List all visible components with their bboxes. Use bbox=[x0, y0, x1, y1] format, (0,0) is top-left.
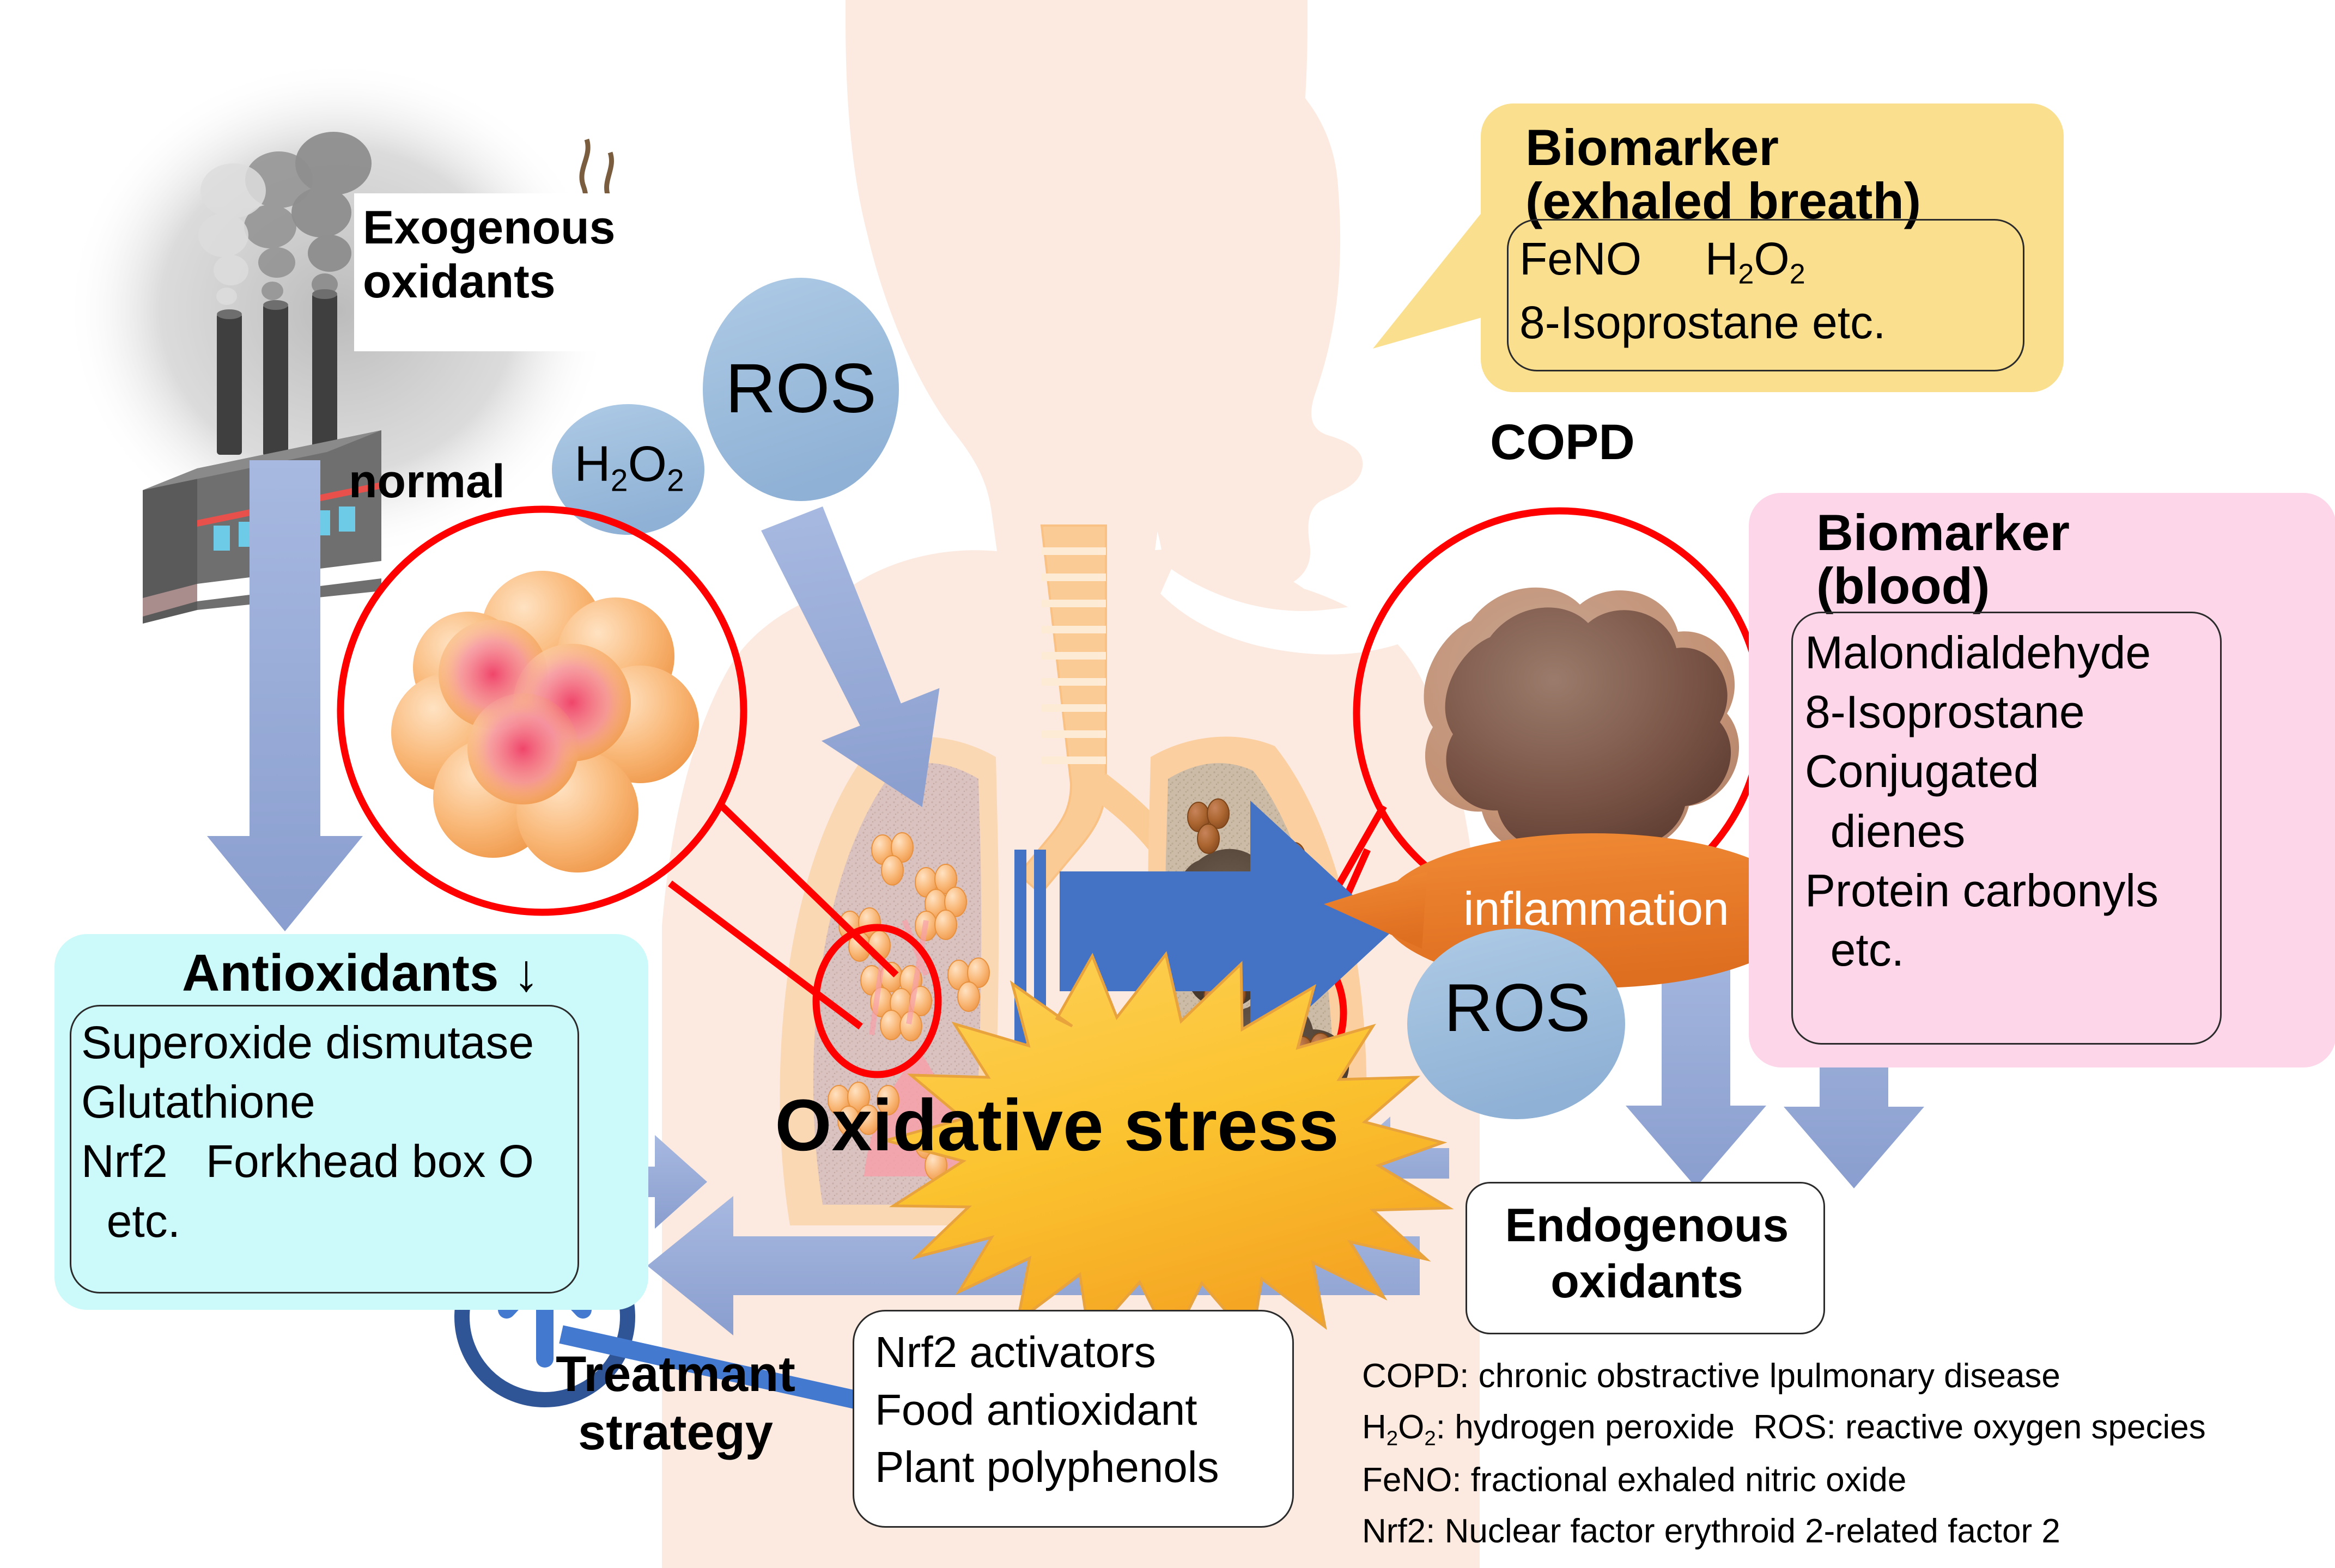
list-item: Protein carbonyls bbox=[1805, 861, 2219, 920]
list-item: Nrf2 activators bbox=[875, 1323, 1278, 1381]
alveoli-copd-magnified bbox=[1424, 588, 1740, 855]
list-item: Glutathione bbox=[81, 1072, 577, 1132]
arrow-ros-into-lung bbox=[759, 494, 956, 824]
list-item: etc. bbox=[81, 1192, 577, 1251]
list-item: etc. bbox=[1805, 920, 2219, 980]
list-item: Food antioxidant bbox=[875, 1381, 1278, 1439]
oxidative-stress-label: Oxidative stress bbox=[752, 1084, 1362, 1167]
treatment-items: Nrf2 activators Food antioxidant Plant p… bbox=[875, 1323, 1278, 1496]
inflammation-pointer bbox=[1324, 871, 1427, 949]
biomarker-blood-items: Malondialdehyde 8-Isoprostane Conjugated… bbox=[1805, 623, 2219, 980]
arrow-exogenous-down bbox=[207, 460, 363, 931]
legend-line-nrf2: Nrf2: Nuclear factor erythroid 2-related… bbox=[1362, 1506, 2321, 1557]
biomarker-blood-panel: Biomarker (blood) Malondialdehyde 8-Isop… bbox=[1749, 493, 2335, 1067]
treatment-strategy-box: Nrf2 activators Food antioxidant Plant p… bbox=[853, 1310, 1294, 1528]
copd-damaged-lobes bbox=[1156, 849, 1357, 1262]
lung-copd bbox=[1148, 737, 1367, 1262]
antioxidants-panel: Antioxidants ↓ Superoxide dismutase Glut… bbox=[54, 934, 648, 1310]
antioxidants-inner-frame: Superoxide dismutase Glutathione Nrf2 Fo… bbox=[70, 1005, 579, 1294]
exogenous-oxidants-label: Exogenous oxidants bbox=[354, 193, 697, 351]
list-item: Malondialdehyde bbox=[1805, 623, 2219, 682]
biomarker-breath-item-2: 8-Isoprostane etc. bbox=[1519, 293, 2021, 352]
list-item: 8-Isoprostane bbox=[1805, 682, 2219, 742]
list-item: Superoxide dismutase bbox=[81, 1013, 577, 1072]
biomarker-breath-title: Biomarker (exhaled breath) bbox=[1525, 121, 2043, 228]
exogenous-oxidants-text: Exogenous oxidants bbox=[363, 201, 690, 309]
legend-line-feno: FeNO: fractional exhaled nitric oxide bbox=[1362, 1455, 2321, 1506]
trachea bbox=[1019, 526, 1172, 894]
biomarker-exhaled-breath-panel: Biomarker (exhaled breath) FeNO H2O2 8-I… bbox=[1481, 103, 2064, 392]
list-item: Plant polyphenols bbox=[875, 1438, 1278, 1496]
biomarker-blood-title: Biomarker (blood) bbox=[1816, 506, 2307, 613]
list-item: Nrf2 Forkhead box O bbox=[81, 1132, 577, 1191]
legend-line-copd: COPD: chronic obstractive lpulmonary dis… bbox=[1362, 1351, 2321, 1402]
inflammation-label: inflammation bbox=[1422, 882, 1771, 936]
arrow-ros-to-endogenous bbox=[1626, 919, 1766, 1187]
ros-label-top: ROS bbox=[708, 349, 893, 429]
copd-label: COPD bbox=[1490, 414, 1635, 471]
alveoli-normal-magnified bbox=[391, 571, 699, 873]
biomarker-breath-inner-frame: FeNO H2O2 8-Isoprostane etc. bbox=[1507, 219, 2024, 371]
ros-label-mid: ROS bbox=[1425, 969, 1610, 1047]
h2o2-label-top: H2O2 bbox=[548, 436, 711, 498]
diagram-canvas: Exogenous oxidants normal COPD ROS H2O2 … bbox=[0, 0, 2335, 1568]
legend-line-h2o2: H2O2: hydrogen peroxide ROS: reactive ox… bbox=[1362, 1402, 2321, 1455]
biomarker-breath-callout-tail bbox=[1373, 212, 1487, 349]
endogenous-oxidants-box: Endogenous oxidants bbox=[1466, 1182, 1825, 1334]
list-item: dienes bbox=[1805, 802, 2219, 861]
list-item: Conjugated bbox=[1805, 742, 2219, 801]
treatment-strategy-label: Treatmant strategy bbox=[523, 1345, 828, 1461]
antioxidants-items: Superoxide dismutase Glutathione Nrf2 Fo… bbox=[81, 1013, 577, 1251]
biomarker-breath-items: FeNO H2O2 8-Isoprostane etc. bbox=[1519, 229, 2021, 353]
biomarker-breath-item-1: FeNO H2O2 bbox=[1519, 229, 2021, 293]
normal-lung-label: normal bbox=[349, 455, 505, 509]
arrow-normal-to-copd bbox=[1014, 801, 1392, 1073]
abbreviations-legend: COPD: chronic obstractive lpulmonary dis… bbox=[1362, 1351, 2321, 1557]
biomarker-blood-inner-frame: Malondialdehyde 8-Isoprostane Conjugated… bbox=[1791, 612, 2222, 1045]
antioxidants-title: Antioxidants ↓ bbox=[88, 946, 633, 1000]
endogenous-oxidants-label: Endogenous oxidants bbox=[1467, 1198, 1827, 1310]
